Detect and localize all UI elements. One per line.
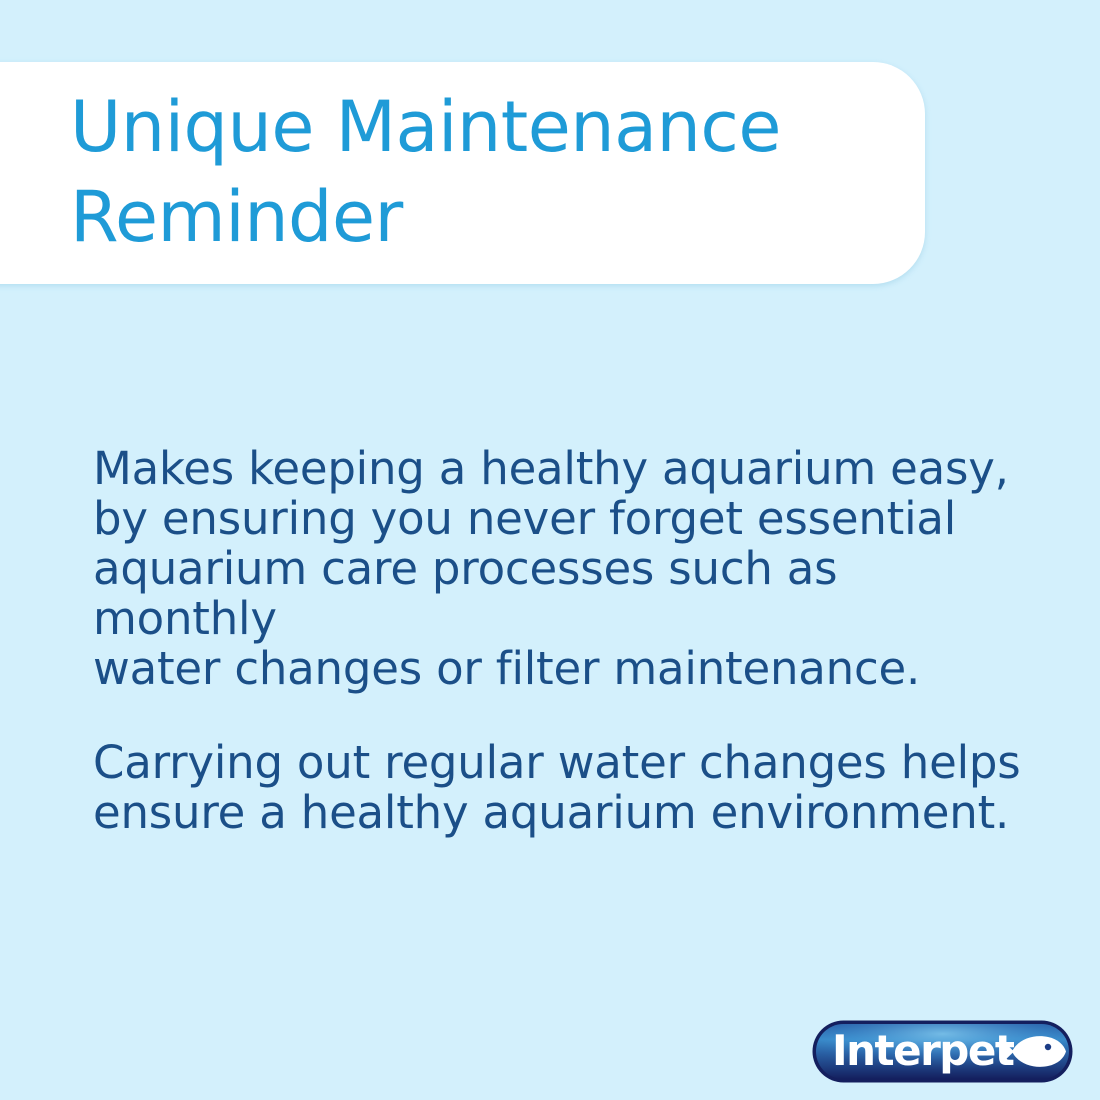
- product-feature-poster: Unique Maintenance Reminder Makes keepin…: [0, 0, 1100, 1100]
- logo-wordmark: Interpet: [832, 1026, 1015, 1075]
- interpet-logo: Interpet: [812, 1020, 1073, 1083]
- page-title: Unique Maintenance Reminder: [70, 82, 890, 262]
- description-paragraph-2: Carrying out regular water changes helps…: [93, 738, 1028, 838]
- body-copy: Makes keeping a healthy aquarium easy, b…: [93, 444, 1028, 838]
- header-card: Unique Maintenance Reminder: [0, 62, 925, 284]
- description-paragraph-1: Makes keeping a healthy aquarium easy, b…: [93, 444, 1028, 694]
